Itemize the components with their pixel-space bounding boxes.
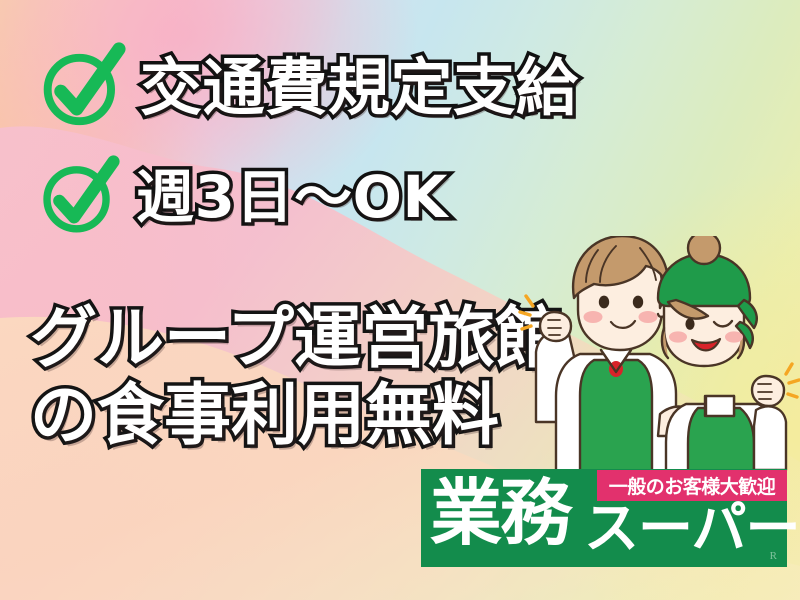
registered-trademark-icon: R	[770, 550, 777, 562]
logo-kanji-text: 業務	[430, 477, 570, 549]
highlight-line-2: の食事利用無料	[30, 377, 562, 454]
job-ad-poster: 交通費規定支給 週3日〜OK グループ運営旅館 の食事利用無料	[0, 0, 800, 600]
benefit-label-2: 週3日〜OK	[136, 168, 448, 226]
logo-kana-text: スーパー	[584, 501, 799, 556]
check-circle-icon	[38, 155, 120, 237]
logo-tagline-banner: 一般のお客様大歓迎	[597, 470, 787, 501]
logo-tagline-text: 一般のお客様大歓迎	[609, 472, 776, 499]
check-circle-icon	[38, 42, 126, 130]
highlight-line-1: グループ運営旅館	[30, 300, 562, 377]
benefit-row-1: 交通費規定支給	[38, 42, 578, 130]
staff-characters-illustration	[508, 236, 800, 496]
benefit-row-2: 週3日〜OK	[38, 155, 448, 237]
brand-logo: 業務 スーパー 一般のお客様大歓迎 R	[421, 469, 787, 567]
highlight-block: グループ運営旅館 の食事利用無料	[30, 300, 562, 454]
benefit-label-1: 交通費規定支給	[140, 57, 578, 119]
